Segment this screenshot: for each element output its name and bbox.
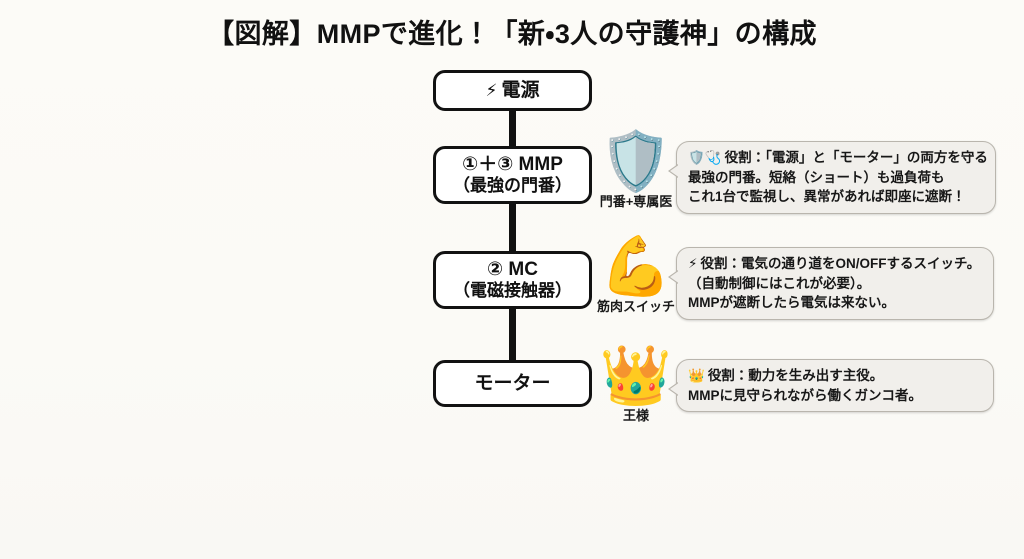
- callout-mc-line1: ⚡役割：電気の通り道をON/OFFするスイッチ。: [688, 254, 983, 274]
- flow-node-mmp-sublabel: （最強の門番）: [453, 176, 572, 196]
- flow-node-mmp-label: ①＋③ MMP: [462, 154, 563, 176]
- callout-mmp: 🛡️🩺役割：「電源」と「モーター」の両方を守る 最強の門番。短絡（ショート）も過…: [676, 141, 996, 214]
- flow-node-power-title: ⚡電源: [486, 80, 540, 102]
- flow-node-mmp[interactable]: ①＋③ MMP （最強の門番）: [433, 146, 592, 204]
- callout-mc-line2: （自動制御にはこれが必要）。: [688, 274, 983, 294]
- callout-mmp-line2: 最強の門番。短絡（ショート）も過負荷も: [688, 168, 985, 188]
- callout-motor: 👑役割：動力を生み出す主役。 MMPに見守られながら働くガンコ者。: [676, 359, 994, 412]
- callout-mmp-text1: 役割：「電源」と「モーター」の両方を守る: [725, 150, 988, 165]
- lightning-bolt-icon: ⚡: [486, 81, 498, 100]
- callout-mc-text1: 役割：電気の通り道をON/OFFするスイッチ。: [700, 256, 980, 271]
- muscle-icon: 💪: [588, 236, 684, 298]
- character-muscle: 💪 筋肉スイッチ: [588, 236, 684, 315]
- character-king: 👑 王様: [588, 345, 684, 424]
- callout-motor-line2: MMPに見守られながら働くガンコ者。: [688, 386, 983, 406]
- flow-node-power-label: 電源: [501, 80, 539, 101]
- lightning-bolt-icon: ⚡: [688, 256, 697, 271]
- callout-mc: ⚡役割：電気の通り道をON/OFFするスイッチ。 （自動制御にはこれが必要）。 …: [676, 247, 994, 320]
- connector-mc-to-motor: [509, 306, 516, 363]
- slide-canvas: 【図解】MMPで進化！「新・3人の守護神」の構成 ⚡電源 ①＋③ MMP （最強…: [0, 0, 1024, 559]
- connector-mmp-to-mc: [509, 201, 516, 254]
- king-icon: 👑: [588, 345, 684, 407]
- page-title: 【図解】MMPで進化！「新・3人の守護神」の構成: [0, 12, 1024, 51]
- character-knight: 🛡️ 門番+専属医: [588, 131, 684, 210]
- callout-mmp-line3: これ1台で監視し、異常があれば即座に遮断！: [688, 187, 985, 207]
- callout-mc-line3: MMPが遮断したら電気は来ない。: [688, 293, 983, 313]
- callout-mmp-line1: 🛡️🩺役割：「電源」と「モーター」の両方を守る: [688, 148, 985, 168]
- flow-node-power[interactable]: ⚡電源: [433, 70, 592, 111]
- flow-node-mc-sublabel: （電磁接触器）: [453, 281, 572, 301]
- crown-icon: 👑: [688, 368, 705, 383]
- connector-power-to-mmp: [509, 108, 516, 149]
- callout-motor-line1: 👑役割：動力を生み出す主役。: [688, 366, 983, 386]
- flow-node-motor[interactable]: モーター: [433, 360, 592, 407]
- flow-node-mc-label: ② MC: [487, 259, 538, 281]
- flow-node-mc[interactable]: ② MC （電磁接触器）: [433, 251, 592, 309]
- knight-icon: 🛡️: [588, 131, 684, 193]
- flow-node-motor-label: モーター: [474, 373, 550, 395]
- callout-motor-text1: 役割：動力を生み出す主役。: [708, 368, 884, 383]
- shield-and-stethoscope-icon: 🛡️🩺: [688, 150, 722, 165]
